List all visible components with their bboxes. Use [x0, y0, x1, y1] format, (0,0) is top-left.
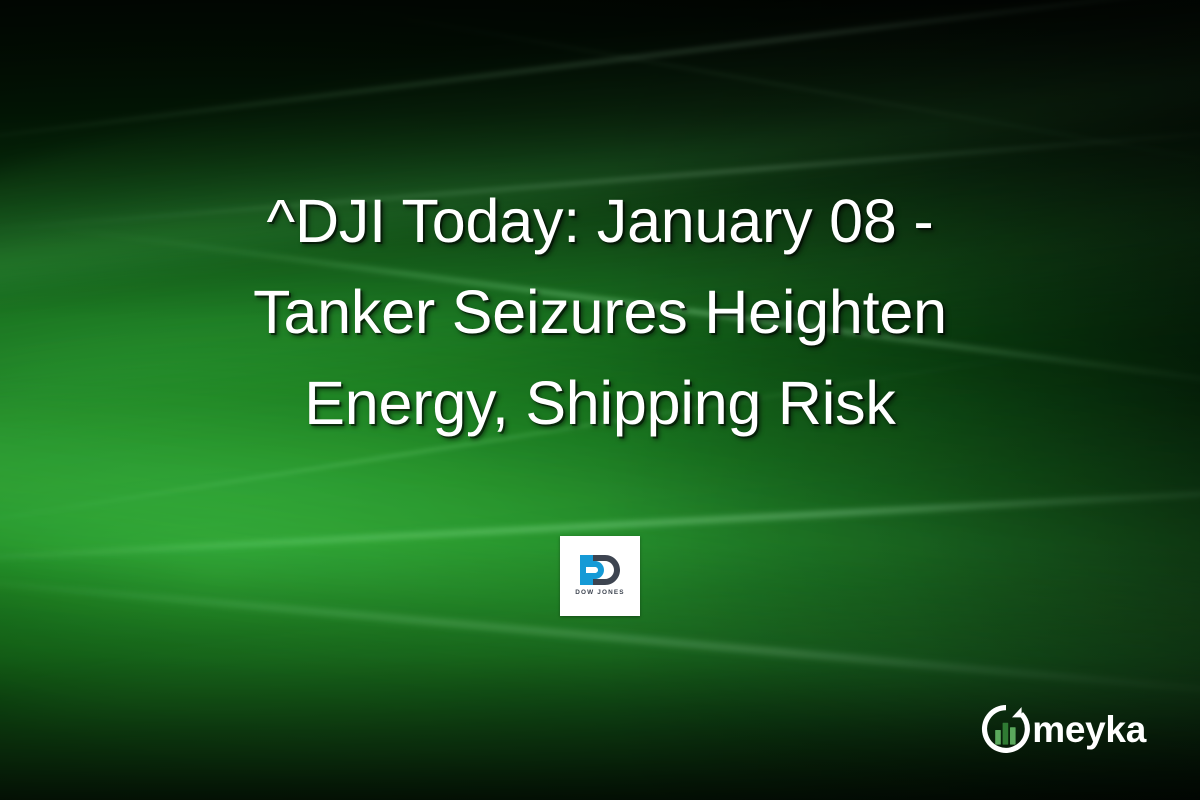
dow-jones-logo: DOW JONES [560, 536, 640, 616]
meyka-brand-lockup[interactable]: meyka [981, 704, 1146, 754]
page-title: ^DJI Today: January 08 - Tanker Seizures… [70, 176, 1130, 449]
meyka-wordmark: meyka [1032, 711, 1146, 748]
card-content: ^DJI Today: January 08 - Tanker Seizures… [0, 0, 1200, 800]
dow-jones-mark-icon [580, 555, 620, 585]
dow-jones-wordmark: DOW JONES [575, 590, 624, 596]
headline-line-2: Tanker Seizures Heighten [70, 267, 1130, 358]
meyka-circle-chart-icon [981, 704, 1031, 754]
headline-line-1: ^DJI Today: January 08 - [70, 176, 1130, 267]
headline-line-3: Energy, Shipping Risk [70, 358, 1130, 449]
social-share-card: ^DJI Today: January 08 - Tanker Seizures… [0, 0, 1200, 800]
